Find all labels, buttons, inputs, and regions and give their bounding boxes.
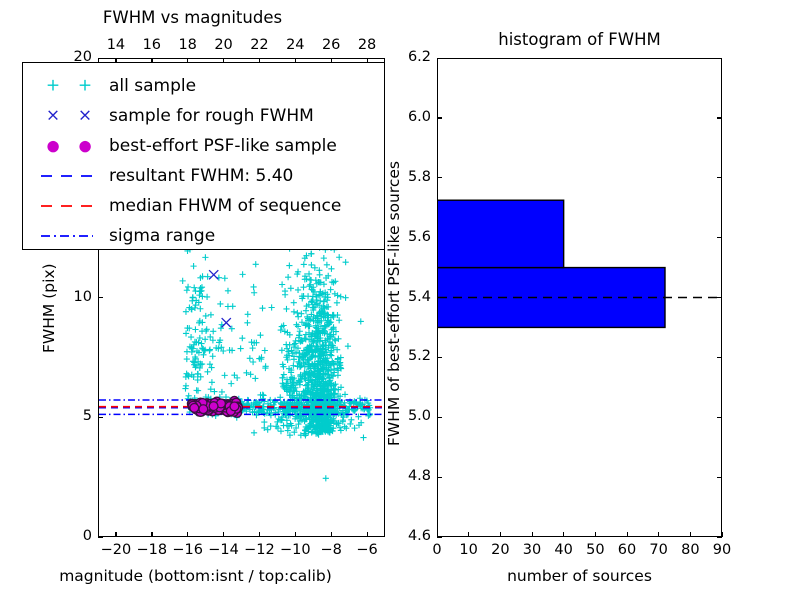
legend-label: median FHWM of sequence xyxy=(109,196,341,216)
left-xtick-label: −6 xyxy=(351,542,383,558)
right-xtick-label: 70 xyxy=(643,542,675,558)
legend-label: all sample xyxy=(109,76,196,96)
right-plot-title: histogram of FWHM xyxy=(437,30,722,49)
left-xtick-label: −16 xyxy=(172,542,204,558)
left-xtick-top-label: 14 xyxy=(100,37,132,53)
left-xtick-label: −20 xyxy=(100,542,132,558)
right-yaxis-label: FWHM of best-effort PSF-like sources xyxy=(385,160,403,445)
right-ytick xyxy=(437,537,442,538)
legend-line-sample xyxy=(39,230,95,242)
left-xtick-top-label: 22 xyxy=(243,37,275,53)
right-xtick-label: 50 xyxy=(579,542,611,558)
left-xtick-top-label: 18 xyxy=(172,37,204,53)
legend-item: ●●best-effort PSF-like sample xyxy=(23,131,384,161)
psf-sample-points xyxy=(187,396,242,417)
right-xtick-label: 80 xyxy=(674,542,706,558)
legend-item: resultant FWHM: 5.40 xyxy=(23,161,384,191)
right-ytick-label: 6.2 xyxy=(393,49,431,65)
left-ytick-label: 10 xyxy=(60,289,92,305)
right-xtick-label: 40 xyxy=(548,542,580,558)
left-xtick-label: −14 xyxy=(208,542,240,558)
left-yaxis-label: FWHM (pix) xyxy=(40,263,58,353)
right-xaxis-label: number of sources xyxy=(437,567,722,585)
left-ytick xyxy=(98,537,103,538)
left-ytick-label: 0 xyxy=(60,528,92,544)
right-xtick-label: 30 xyxy=(516,542,548,558)
right-xtick-label: 0 xyxy=(421,542,453,558)
left-xtick-top-label: 24 xyxy=(279,37,311,53)
right-ytick-label: 4.6 xyxy=(393,528,431,544)
left-xtick-label: −18 xyxy=(136,542,168,558)
left-xtick-label: −8 xyxy=(315,542,347,558)
right-ytick-label: 4.8 xyxy=(393,468,431,484)
legend-marker-×: × xyxy=(78,108,92,125)
legend-item: sigma range xyxy=(23,221,384,251)
histogram-bar xyxy=(438,200,564,267)
left-ytick-label: 5 xyxy=(60,408,92,424)
left-xaxis-label: magnitude (bottom:isnt / top:calib) xyxy=(0,567,391,585)
left-xtick-top-label: 20 xyxy=(208,37,240,53)
left-xtick-top-label: 26 xyxy=(315,37,347,53)
figure-canvas: FWHM vs magnitudes−20−18−16−14−12−10−8−6… xyxy=(0,0,800,600)
left-plot-title: FWHM vs magnitudes xyxy=(0,8,385,27)
legend-label: best-effort PSF-like sample xyxy=(109,136,337,156)
legend-item: median FHWM of sequence xyxy=(23,191,384,221)
legend-item: ++all sample xyxy=(23,71,384,101)
left-xtick-label: −10 xyxy=(279,542,311,558)
legend-label: resultant FWHM: 5.40 xyxy=(109,166,293,186)
legend-marker-+: + xyxy=(78,78,92,95)
legend-label: sigma range xyxy=(109,226,215,246)
right-ytick-right xyxy=(717,537,722,538)
legend-box: ++all sample××sample for rough FWHM●●bes… xyxy=(22,62,385,250)
left-xtick-top-label: 16 xyxy=(136,37,168,53)
right-xtick-label: 60 xyxy=(611,542,643,558)
right-xtick-label: 20 xyxy=(484,542,516,558)
legend-line-sample xyxy=(39,200,95,212)
all-sample-points xyxy=(180,218,373,481)
legend-marker-×: × xyxy=(46,108,60,125)
histogram-layer xyxy=(438,59,721,536)
legend-item: ××sample for rough FWHM xyxy=(23,101,384,131)
legend-line-sample xyxy=(39,170,95,182)
left-xtick-label: −12 xyxy=(243,542,275,558)
left-xtick-top-label: 28 xyxy=(351,37,383,53)
legend-marker-●: ● xyxy=(78,139,91,154)
legend-marker-+: + xyxy=(46,78,60,95)
right-xtick-label: 90 xyxy=(706,542,738,558)
legend-label: sample for rough FWHM xyxy=(109,106,314,126)
right-xtick-label: 10 xyxy=(453,542,485,558)
right-ytick-label: 6.0 xyxy=(393,109,431,125)
legend-marker-●: ● xyxy=(46,139,59,154)
